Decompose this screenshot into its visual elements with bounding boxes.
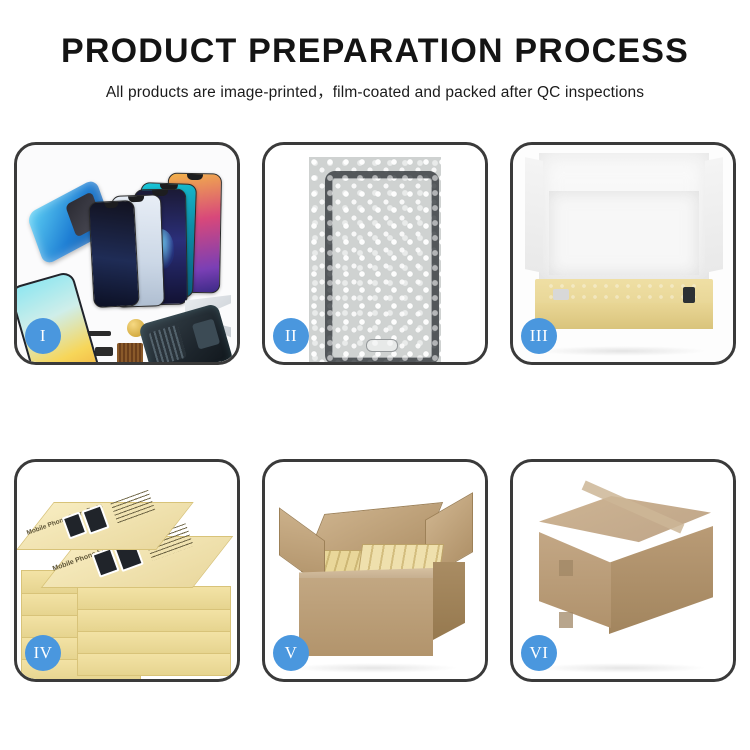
process-step-grid: I II III (14, 142, 736, 682)
carton-tab-lower (559, 612, 573, 628)
step-badge-1: I (25, 318, 61, 354)
page-title: PRODUCT PREPARATION PROCESS (0, 34, 750, 70)
process-step-panel-4[interactable]: Mobile Phone Spare Parts Mobile Phone Sp… (14, 459, 240, 682)
drop-shadow (289, 663, 459, 673)
page-header: PRODUCT PREPARATION PROCESS All products… (0, 0, 750, 102)
connector-part-1 (95, 347, 113, 356)
phone-screen-5 (88, 200, 139, 308)
step-badge-6: VI (521, 635, 557, 671)
drop-shadow (537, 663, 707, 673)
step-badge-5: V (273, 635, 309, 671)
carton-front-panel (299, 578, 433, 656)
step-badge-3: III (521, 318, 557, 354)
process-step-panel-2[interactable]: II (262, 142, 488, 365)
carton-tab-upper (559, 560, 573, 576)
step-badge-4: IV (25, 635, 61, 671)
process-step-panel-1[interactable]: I (14, 142, 240, 365)
foam-padding-inner (549, 191, 699, 275)
process-step-panel-5[interactable]: V (262, 459, 488, 682)
process-step-panel-3[interactable]: III (510, 142, 736, 365)
bubble-wrap-sheet (309, 157, 441, 362)
ic-chip-part (117, 343, 143, 362)
wrapped-phone-screen (325, 171, 439, 362)
drop-shadow (537, 346, 707, 356)
process-step-panel-6[interactable]: VI (510, 459, 736, 682)
kraft-box-front (535, 303, 713, 329)
page-subtitle: All products are image-printed，film-coat… (0, 80, 750, 102)
step-badge-2: II (273, 318, 309, 354)
